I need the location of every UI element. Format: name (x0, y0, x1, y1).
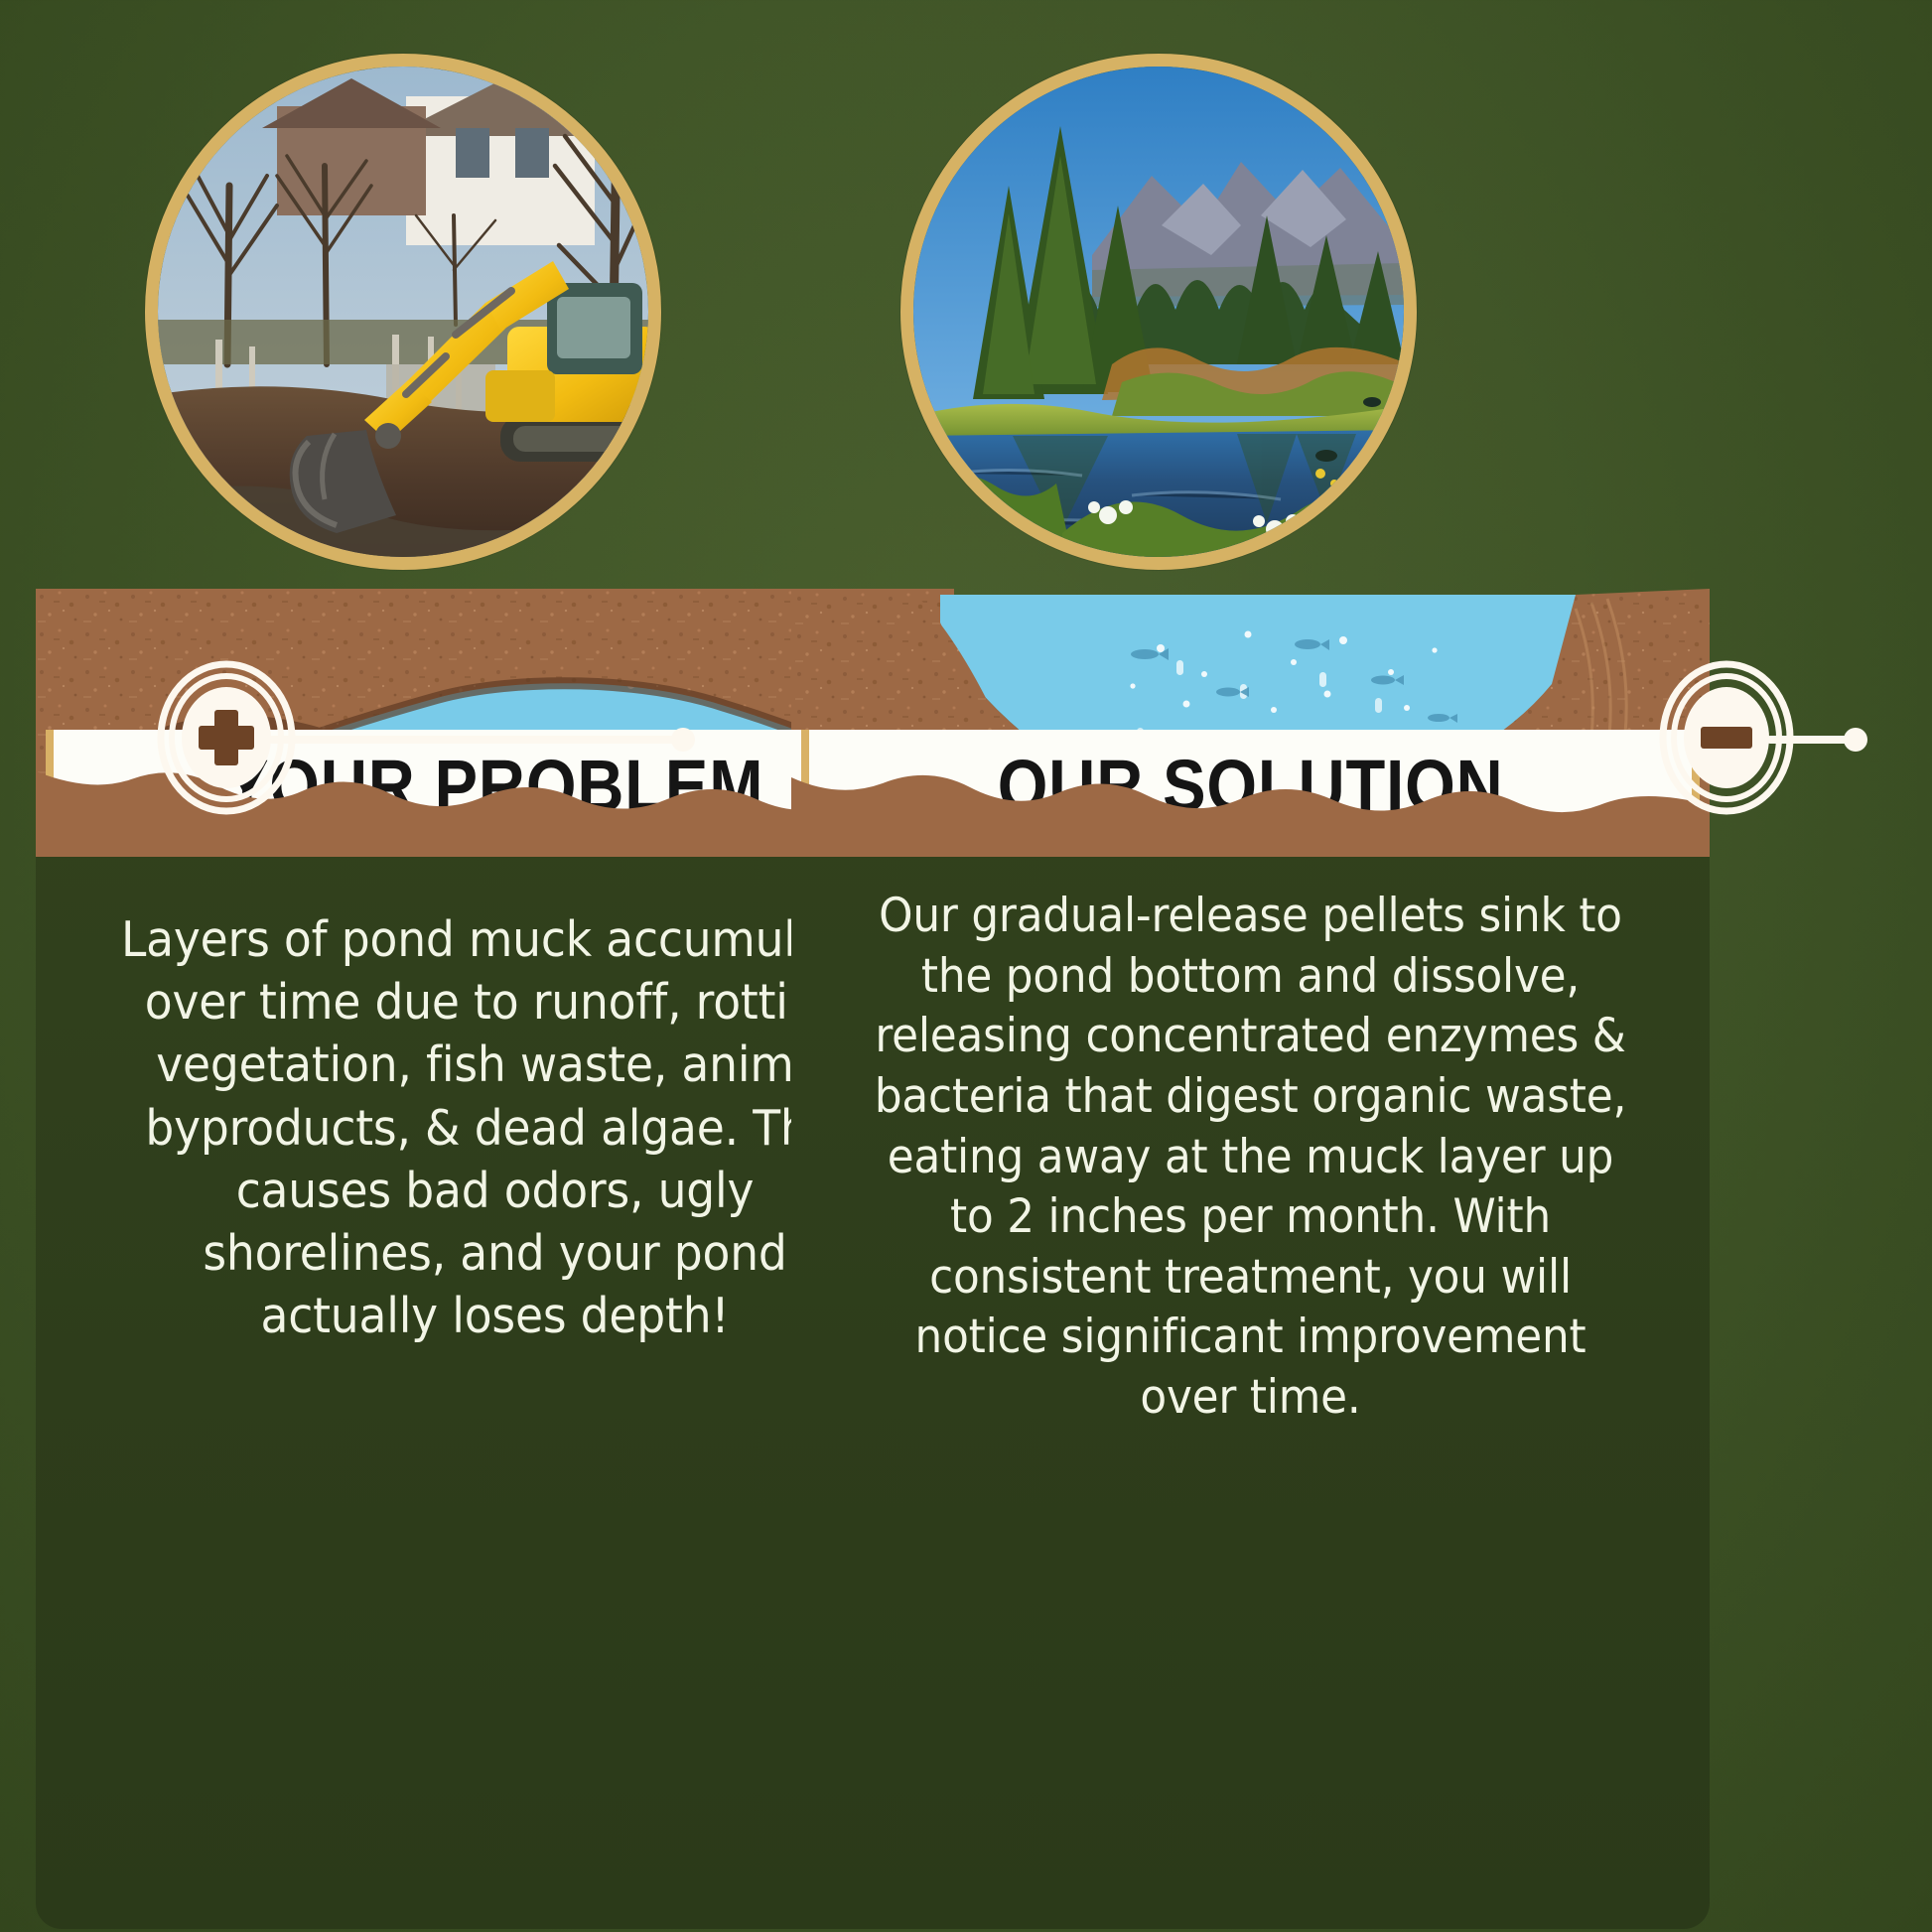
panel-title: OUR SOLUTION (998, 744, 1504, 828)
comparison-panels: YOUR PROBLEM (0, 589, 1932, 1932)
panel-our-solution: OUR SOLUTION (791, 589, 1710, 1932)
photo-excavator-dredging-pond (145, 54, 661, 570)
mountain-pond-photo-content (913, 67, 1404, 557)
excavator-photo-content (158, 67, 648, 557)
title-card-our-solution: OUR SOLUTION (801, 730, 1700, 849)
plus-badge-wrapper (147, 648, 832, 831)
panel-body-text: Our gradual-release pellets sink to the … (872, 887, 1630, 1429)
panel-body-text: Layers of pond muck accumulate over time… (116, 908, 875, 1347)
photo-clear-mountain-pond (900, 54, 1417, 570)
minus-badge-wrapper (1657, 648, 1932, 831)
photo-row (0, 44, 1932, 588)
